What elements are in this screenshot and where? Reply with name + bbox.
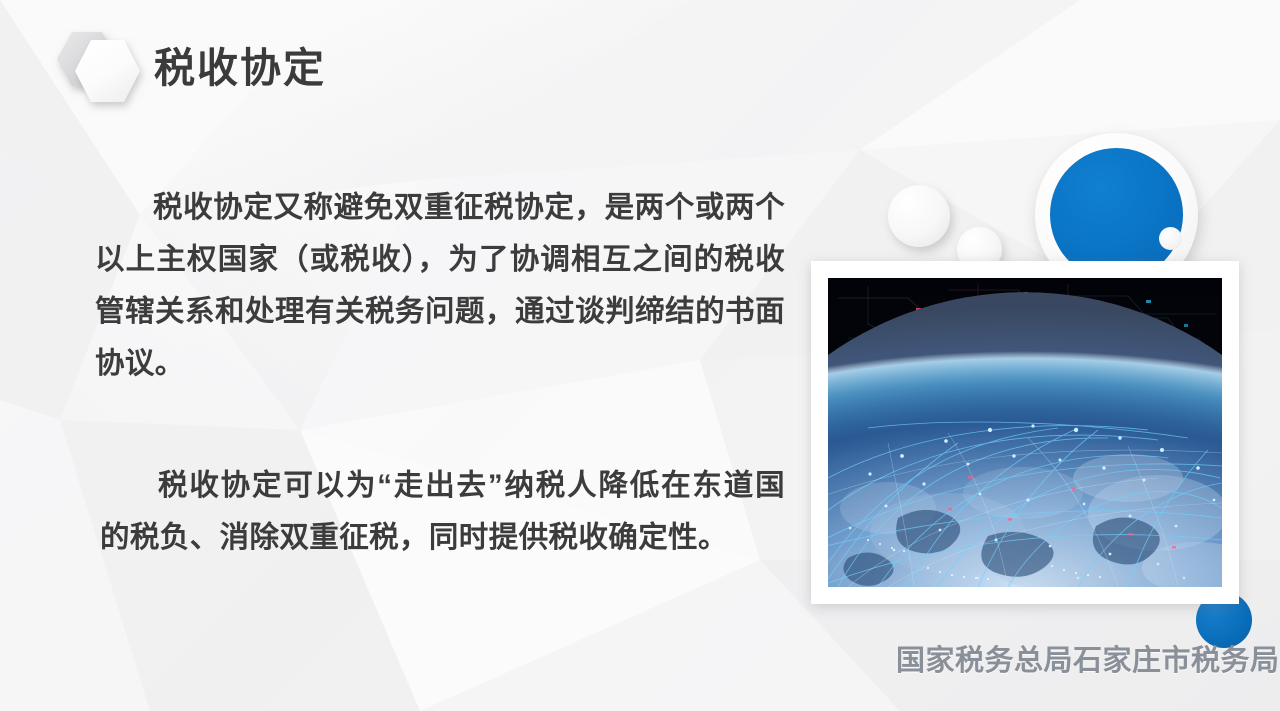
paragraph-1: 税收协定又称避免双重征税协定，是两个或两个以上主权国家（或税收），为了协调相互之… bbox=[95, 182, 785, 390]
decoration-circle-white-large bbox=[888, 185, 950, 247]
globe-network-image bbox=[828, 278, 1222, 587]
paragraph-2: 税收协定可以为“走出去”纳税人降低在东道国的税负、消除双重征税，同时提供税收确定… bbox=[95, 460, 785, 564]
decoration-circle-white-dot bbox=[1159, 227, 1182, 250]
body-text-block: 税收协定又称避免双重征税协定，是两个或两个以上主权国家（或税收），为了协调相互之… bbox=[95, 182, 785, 564]
footer-organization: 国家税务总局石家庄市税务局 bbox=[896, 637, 1280, 679]
hexagon-logo bbox=[44, 26, 160, 130]
image-frame bbox=[811, 261, 1239, 604]
slide-canvas: 税收协定 税收协定又称避免双重征税协定，是两个或两个以上主权国家（或税收），为了… bbox=[0, 0, 1280, 711]
page-title: 税收协定 bbox=[154, 45, 326, 92]
